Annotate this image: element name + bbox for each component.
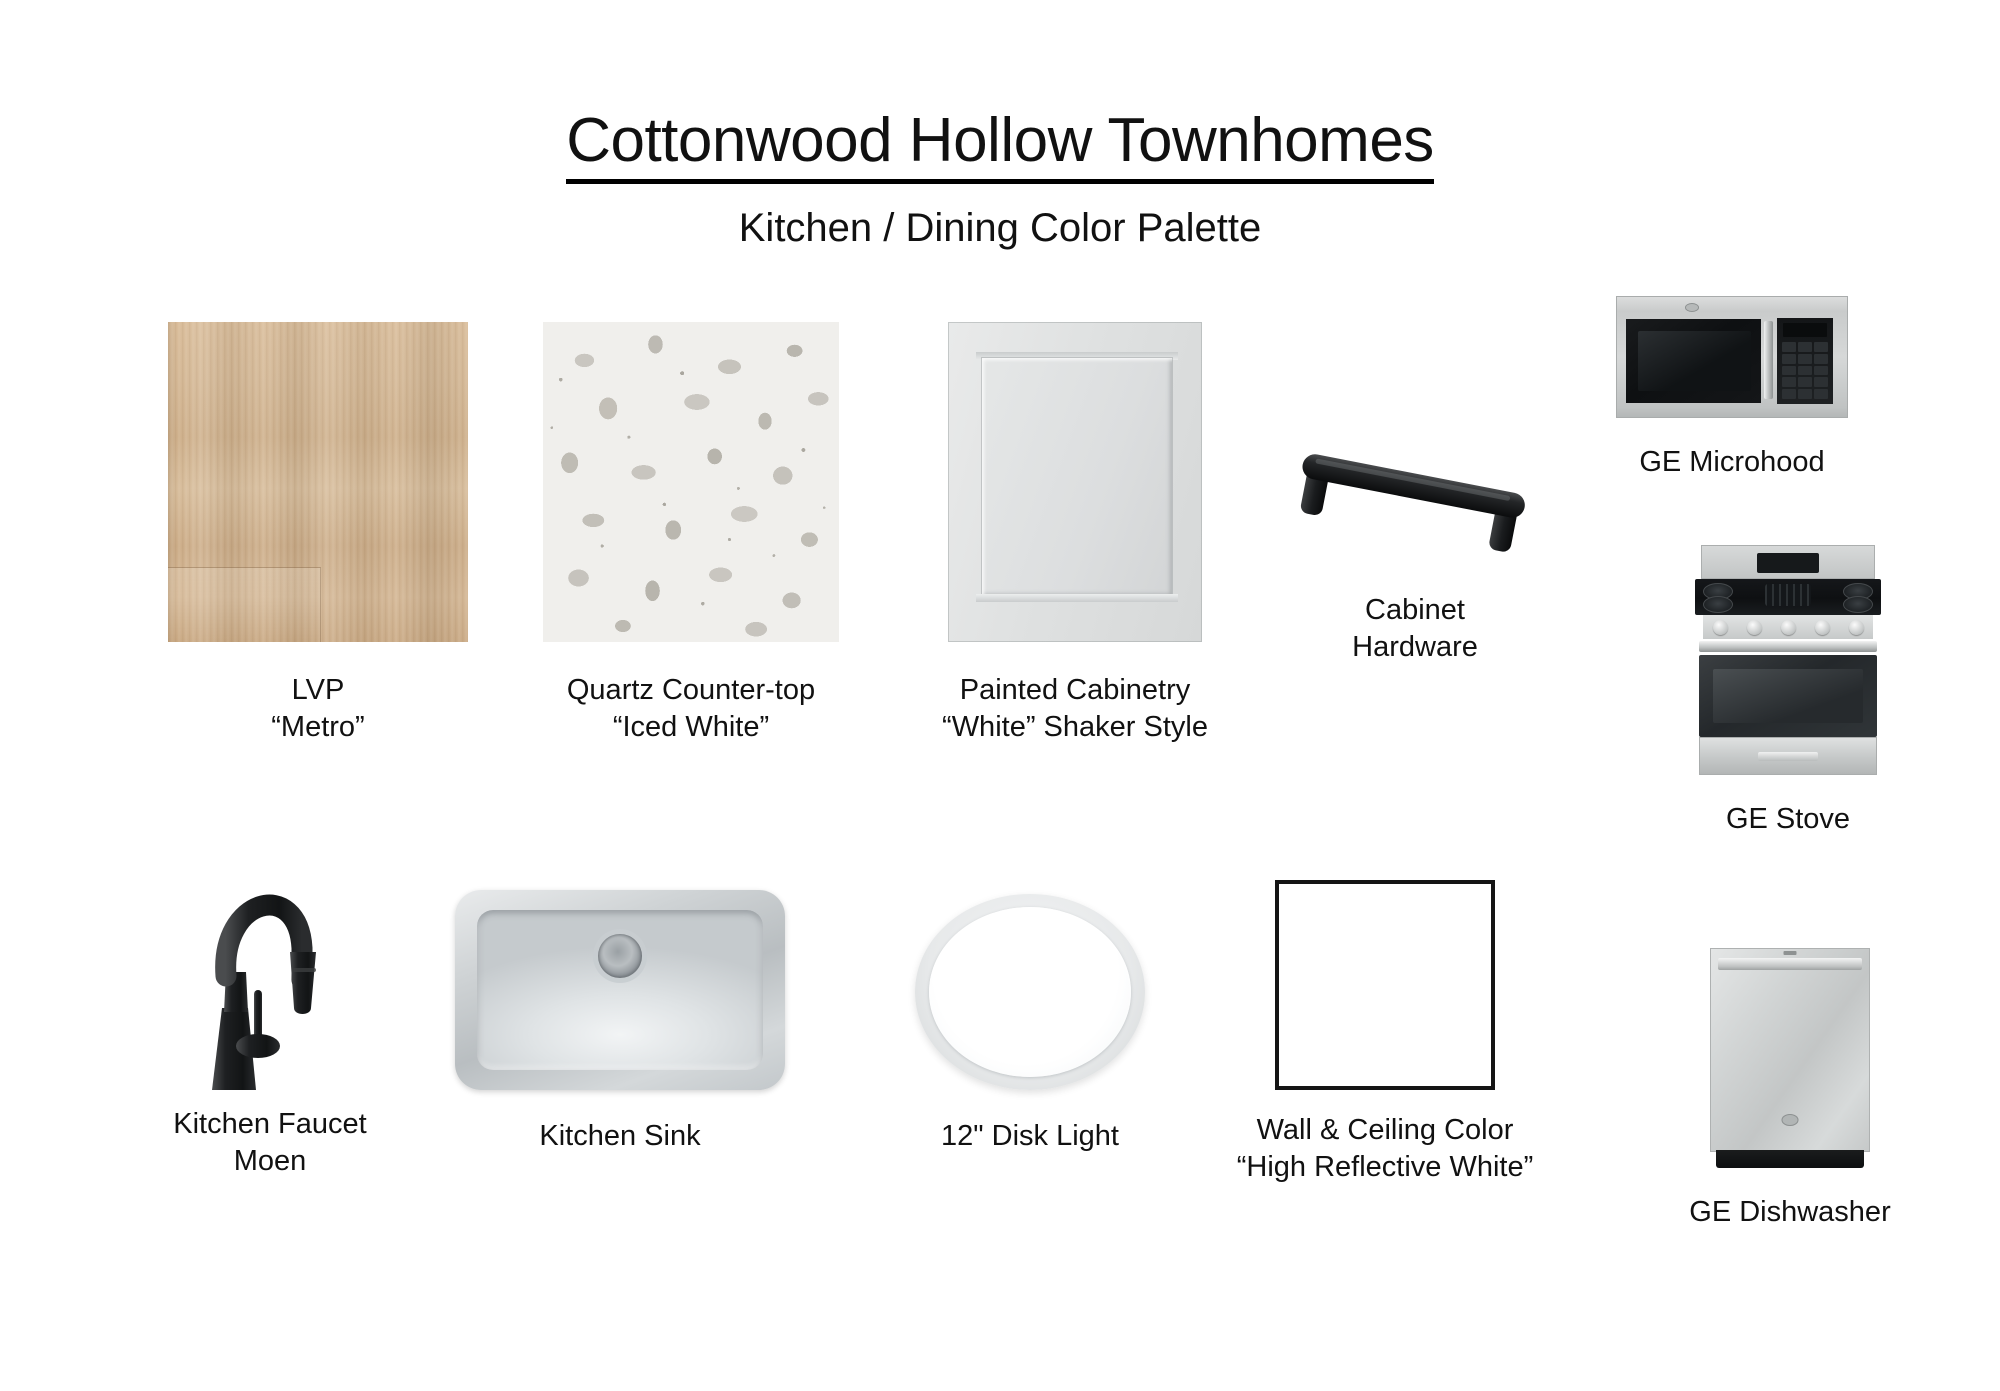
palette-item-lvp[interactable]: LVP “Metro” xyxy=(168,322,468,746)
stove-cooktop xyxy=(1695,579,1881,615)
stove-knob xyxy=(1781,620,1796,635)
page-subtitle: Kitchen / Dining Color Palette xyxy=(0,206,2000,250)
hardware-caption: Cabinet Hardware xyxy=(1280,592,1550,666)
stove-backguard xyxy=(1701,545,1875,579)
hardware-swatch-wrap xyxy=(1280,430,1550,570)
lvp-label-line1: LVP xyxy=(292,674,345,706)
disklight-image-wrap xyxy=(880,880,1180,1090)
palette-item-quartz[interactable]: Quartz Counter-top “Iced White” xyxy=(543,322,839,746)
stove-knob xyxy=(1849,620,1864,635)
dishwasher-toe-kick xyxy=(1716,1150,1864,1168)
design-board: Cottonwood Hollow Townhomes Kitchen / Di… xyxy=(0,0,2000,1391)
oven-door-handle xyxy=(1699,641,1877,652)
stove-knob xyxy=(1713,620,1728,635)
quartz-stone-swatch-icon xyxy=(543,322,839,642)
palette-item-dishwasher[interactable]: GE Dishwasher xyxy=(1650,948,1930,1231)
microwave-display xyxy=(1783,323,1827,337)
disklight-caption: 12" Disk Light xyxy=(880,1118,1180,1155)
dishwasher-top-control-bar xyxy=(1718,958,1862,970)
microhood-caption: GE Microhood xyxy=(1592,444,1872,481)
quartz-caption: Quartz Counter-top “Iced White” xyxy=(543,672,839,746)
palette-item-cabinetry[interactable]: Painted Cabinetry “White” Shaker Style xyxy=(948,322,1202,746)
ge-badge xyxy=(1685,303,1699,312)
palette-item-microhood[interactable]: GE Microhood xyxy=(1592,296,1872,481)
shaker-cabinet-door-icon xyxy=(948,322,1202,642)
palette-item-stove[interactable]: GE Stove xyxy=(1648,545,1928,838)
stove-knob xyxy=(1747,620,1762,635)
ceiling-disk-light-icon xyxy=(915,894,1145,1090)
door-center-panel xyxy=(982,358,1172,596)
palette-item-sink[interactable]: Kitchen Sink xyxy=(450,880,790,1155)
door-bevel-bottom xyxy=(976,594,1178,602)
sink-caption: Kitchen Sink xyxy=(450,1118,790,1155)
cabinet-bar-pull-icon xyxy=(1280,430,1550,570)
palette-item-hardware[interactable]: Cabinet Hardware xyxy=(1280,430,1550,666)
sink-label: Kitchen Sink xyxy=(539,1120,700,1152)
storage-drawer xyxy=(1699,737,1877,775)
cabinetry-label-line1: Painted Cabinetry xyxy=(960,674,1191,706)
lvp-caption: LVP “Metro” xyxy=(168,672,468,746)
sink-drain xyxy=(598,934,642,978)
wallcolor-caption: Wall & Ceiling Color “High Reflective Wh… xyxy=(1190,1112,1580,1186)
microwave-handle xyxy=(1764,321,1773,399)
wood-plank-swatch-icon xyxy=(168,322,468,642)
disk-light-lens xyxy=(929,907,1131,1077)
dishwasher-caption: GE Dishwasher xyxy=(1650,1194,1930,1231)
quartz-swatch-wrap xyxy=(543,322,839,642)
microhood-label: GE Microhood xyxy=(1639,446,1824,478)
stove-label: GE Stove xyxy=(1726,803,1850,835)
wallcolor-label-line1: Wall & Ceiling Color xyxy=(1257,1114,1514,1146)
microwave-appliance-icon xyxy=(1616,296,1848,418)
microhood-image-wrap xyxy=(1592,296,1872,418)
dishwasher-image-wrap xyxy=(1650,948,1930,1168)
disklight-label: 12" Disk Light xyxy=(941,1120,1119,1152)
paint-color-chip-icon xyxy=(1275,880,1495,1090)
page-title: Cottonwood Hollow Townhomes xyxy=(566,108,1434,184)
stove-image-wrap xyxy=(1648,545,1928,775)
stove-knob xyxy=(1815,620,1830,635)
hardware-label-line2: Hardware xyxy=(1280,629,1550,666)
microwave-keypad xyxy=(1782,342,1828,399)
microwave-control-panel xyxy=(1777,318,1833,404)
faucet-caption: Kitchen Faucet Moen xyxy=(140,1106,400,1180)
lvp-label-line2: “Metro” xyxy=(168,709,468,746)
range-stove-appliance-icon xyxy=(1695,545,1881,775)
quartz-label-line2: “Iced White” xyxy=(543,709,839,746)
faucet-label-line2: Moen xyxy=(140,1143,400,1180)
microwave-door xyxy=(1626,319,1761,403)
faucet-label-line1: Kitchen Faucet xyxy=(173,1108,366,1140)
dishwasher-appliance-icon xyxy=(1710,948,1870,1168)
board-header: Cottonwood Hollow Townhomes Kitchen / Di… xyxy=(0,108,2000,250)
kitchen-faucet-icon xyxy=(170,840,370,1090)
dishwasher-top-indicator xyxy=(1784,951,1797,955)
quartz-label-line1: Quartz Counter-top xyxy=(567,674,815,706)
kitchen-sink-icon xyxy=(455,890,785,1090)
palette-item-disklight[interactable]: 12" Disk Light xyxy=(880,880,1180,1155)
cabinetry-caption: Painted Cabinetry “White” Shaker Style xyxy=(868,672,1282,746)
hardware-label-line1: Cabinet xyxy=(1365,594,1465,626)
oven-door-window xyxy=(1699,655,1877,737)
stove-knob-row xyxy=(1703,615,1873,639)
cabinetry-label-line2: “White” Shaker Style xyxy=(868,709,1282,746)
sink-image-wrap xyxy=(450,880,790,1090)
ge-badge xyxy=(1782,1114,1799,1126)
lvp-swatch-wrap xyxy=(168,322,468,642)
dishwasher-label: GE Dishwasher xyxy=(1689,1196,1890,1228)
wallcolor-swatch-wrap xyxy=(1190,840,1580,1090)
stove-caption: GE Stove xyxy=(1648,801,1928,838)
palette-item-faucet[interactable]: Kitchen Faucet Moen xyxy=(140,830,400,1180)
cabinetry-swatch-wrap xyxy=(948,322,1202,642)
wallcolor-label-line2: “High Reflective White” xyxy=(1190,1149,1580,1186)
faucet-image-wrap xyxy=(140,830,400,1090)
stove-control-display xyxy=(1757,553,1819,573)
palette-item-wallcolor[interactable]: Wall & Ceiling Color “High Reflective Wh… xyxy=(1190,840,1580,1186)
